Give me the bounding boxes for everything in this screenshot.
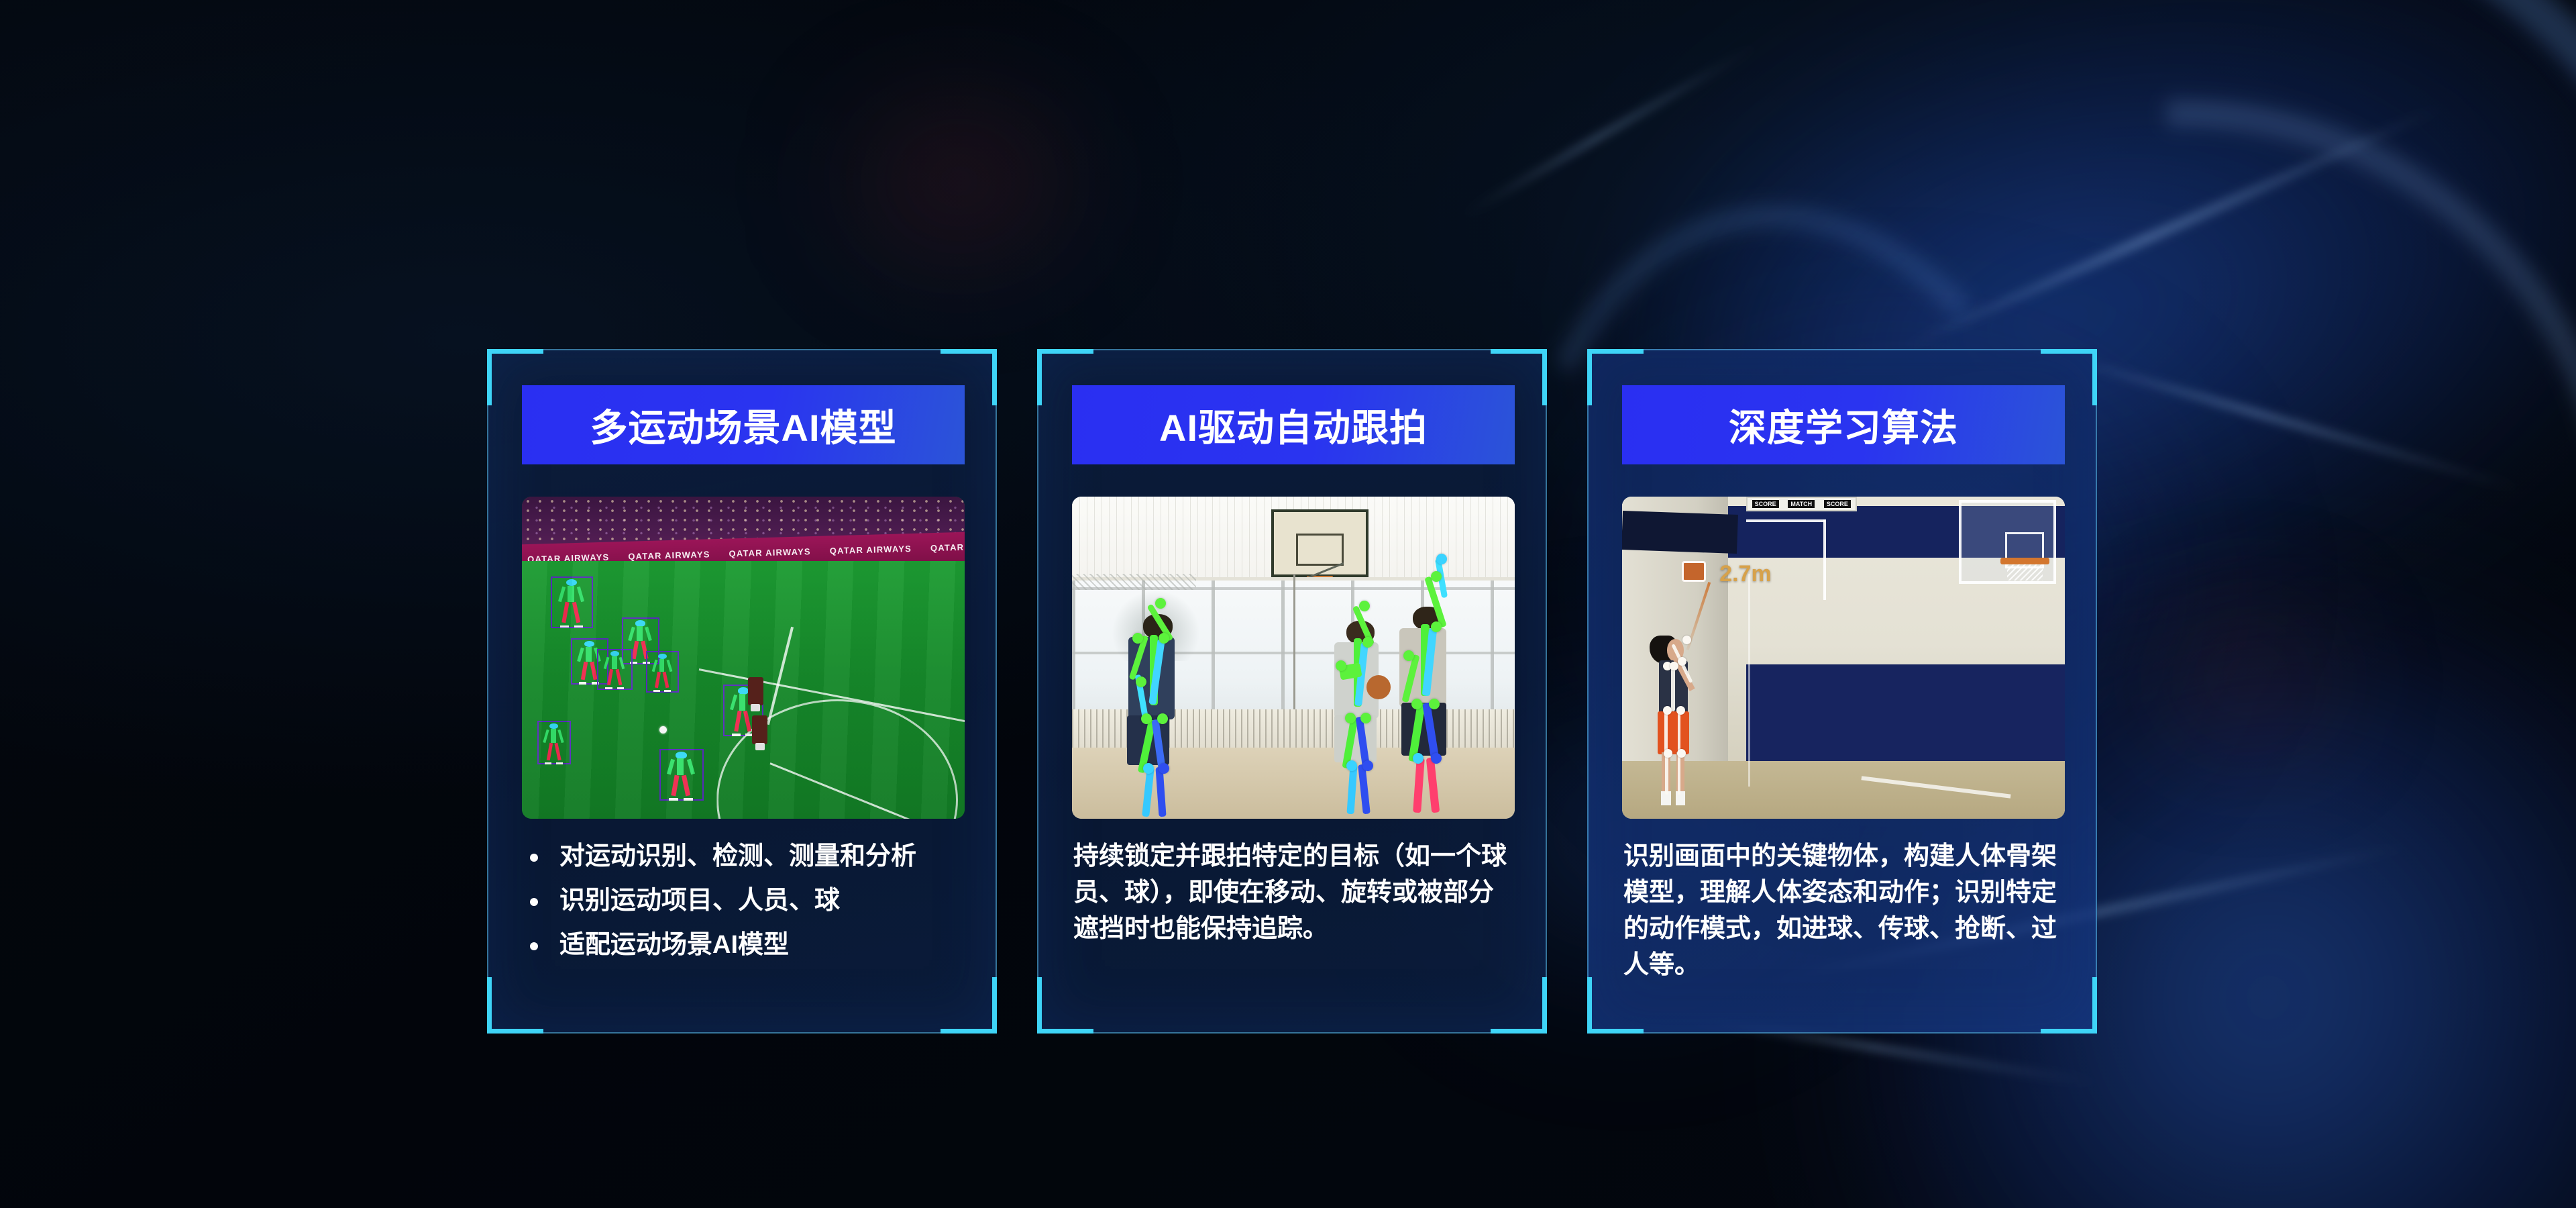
untracked-player [752,715,767,744]
pose-head-marker [738,687,749,694]
corner-bracket-bottom-left-icon [487,977,543,1034]
pose-joint [1676,706,1685,715]
pitch-line-far [769,762,965,819]
pose-head-marker [566,579,577,586]
detection-box-player [646,651,680,692]
pose-joint [1155,598,1166,609]
pose-right-arm-bone [619,657,625,670]
card-title-banner: AI驱动自动跟拍 [1072,385,1515,464]
pose-left-arm-bone [577,648,584,662]
detection-box-player [659,749,704,801]
pose-right-arm-bone [687,759,695,775]
pose-right-shoe [574,625,583,628]
untracked-player [748,677,763,705]
pose-right-arm-bone [666,660,672,672]
corner-bracket-bottom-left-icon [1037,977,1093,1034]
pose-right-arm-bone [645,627,651,641]
tracked-player-pose-right [1382,593,1479,812]
pose-right-leg-bone [743,710,751,731]
sponsor-banner-text-2: QATAR AIRWAYS [628,549,710,561]
pose-right-arm-bone [748,695,755,711]
pose-head-marker [549,723,558,729]
pose-left-arm-bone [667,759,675,775]
wall-navy-pad-lower [1746,664,2065,761]
pose-joint [1362,637,1373,648]
window-mesh-guard [1072,574,1196,590]
detection-box-player [537,721,571,764]
pose-head-marker [658,654,667,659]
measurement-guide-horizontal [1746,519,1826,522]
pose-torso-bone [568,586,574,603]
pose-right-leg-bone [554,742,561,760]
feature-card-deep-learning[interactable]: 深度学习算法 SCORE MATCH SCORE [1587,349,2097,1034]
scoreboard-label-score-left: SCORE [1752,500,1779,508]
pose-left-shoe [630,662,637,664]
corner-bracket-bottom-right-icon [941,977,997,1034]
gym-scene [1072,497,1515,819]
pose-left-shin-bone [1346,764,1357,815]
basketball-backboard [1271,509,1368,577]
detection-box-player [551,576,593,628]
pose-left-leg-bone [734,710,741,731]
pose-left-shin-bone [1142,766,1154,816]
corner-bracket-bottom-right-icon [1491,977,1547,1034]
corner-bracket-bottom-right-icon [2041,977,2097,1034]
pose-left-arm-bone [651,660,657,672]
pose-left-shin-bone [1413,757,1425,812]
pose-joint [1345,713,1356,723]
pose-right-shoe [745,734,753,736]
pose-torso-bone [551,729,555,743]
scoreboard-label-match: MATCH [1788,500,1815,508]
pose-joint [1362,760,1373,771]
pose-right-shoe [617,687,625,689]
pose-right-shoe [664,690,671,692]
scoreboard-label-score-right: SCORE [1824,500,1851,508]
pose-right-shoe [684,798,693,801]
pose-left-leg-bone [581,661,588,680]
pose-right-shin-bone [1426,757,1439,812]
backboard-inner-square [1296,534,1344,566]
pose-left-arm-bone [730,695,737,711]
detection-box-player [723,685,763,736]
pose-right-leg-bone [641,641,648,660]
pose-left-shoe [732,734,740,736]
sponsor-banner-text-3: QATAR AIRWAYS [729,546,812,558]
basketball-net [2007,564,2043,581]
pose-joint [1141,713,1152,724]
pose-right-leg-bone [663,672,669,689]
corner-bracket-bottom-left-icon [1587,977,1644,1034]
detection-box-player [597,649,633,690]
pose-right-shoe [643,662,650,664]
sponsor-banner-text-4: QATAR AIRWAYS [830,543,912,555]
pose-right-leg-bone [615,669,622,686]
card-title-text: AI驱动自动跟拍 [1159,398,1428,452]
pose-joint [1411,699,1422,709]
pose-left-shin-bone [1665,752,1668,795]
pose-joint [1664,749,1672,758]
pose-joint [1136,676,1146,687]
pose-head-marker [610,651,620,656]
pose-left-leg-bone [672,774,680,795]
player-shorts [1658,711,1690,754]
pitch-line-side [767,627,794,725]
pose-joint [1678,657,1686,666]
pose-right-arm-bone [594,648,600,662]
soccer-pitch-detection-preview[interactable]: QATAR AIRWAYS QATAR AIRWAYS QATAR AIRWAY… [522,497,965,819]
feature-description: 持续锁定并跟拍特定的目标（如一个球员、球），即使在移动、旋转或被部分遮挡时也能保… [1073,839,1519,948]
pose-left-leg-bone [632,641,639,660]
pose-torso-bone [637,626,642,641]
sponsor-banner-text-5: QATAR AIRWAYS [930,540,965,552]
pose-right-shin-bone [1678,752,1681,795]
pose-right-arm-bone [577,587,584,603]
pose-left-leg-bone [655,672,661,689]
pose-torso-bone [612,656,617,670]
pose-right-leg-bone [572,602,581,623]
soccer-ball [659,726,667,734]
pose-right-leg-bone [682,774,690,795]
pose-torso-bone [659,659,664,672]
pose-joint [1143,763,1154,774]
pose-torso-bone [586,647,591,662]
pitch-turf [522,561,965,819]
pose-joint [1682,636,1691,644]
pose-torso-bone [677,758,684,775]
pose-left-arm-bone [603,657,609,670]
pose-left-leg-bone [607,669,613,686]
pose-joint [1677,749,1686,758]
pose-right-shoe [592,682,599,684]
measurement-guide-vertical [1823,519,1826,600]
pose-head-marker [635,620,645,626]
soccer-scene: QATAR AIRWAYS QATAR AIRWAYS QATAR AIRWAY… [522,497,965,819]
pose-left-arm-bone [543,729,549,743]
pose-right-shoe [556,762,563,764]
basketball-rim [2000,558,2049,564]
pose-left-leg-bone [562,602,570,623]
pose-head-marker [676,752,687,758]
pose-head-marker [584,641,594,647]
card-title-text: 多运动场景AI模型 [590,398,897,452]
feature-card-row: 多运动场景AI模型 QATAR AIRWAYS QATAR AIRWAYS QA… [487,349,2097,1034]
pose-joint [1132,633,1143,644]
pitch-line-diagonal [699,668,965,723]
list-item: 适配运动场景AI模型 [518,927,973,964]
measurement-value-label: 2.7m [1719,561,1772,587]
measurement-guide-drop [1748,574,1750,787]
pose-joint [1157,713,1168,724]
feature-bullet-list: 对运动识别、检测、测量和分析 识别运动项目、人员、球 适配运动场景AI模型 [518,839,973,972]
pose-joint [1159,763,1169,774]
pose-right-leg-bone [590,661,597,680]
list-item: 对运动识别、检测、测量和分析 [518,839,973,875]
pose-left-shoe [669,798,678,801]
pose-left-shoe [545,762,551,764]
pillar-dark-band [1622,511,1738,554]
pose-right-arm-bone [557,729,563,743]
pitch-centre-circle [716,699,958,819]
pose-joint [1360,713,1371,723]
pose-left-shoe [560,625,569,628]
feature-card-ai-auto-tracking[interactable]: AI驱动自动跟拍 [1037,349,1547,1034]
card-title-banner: 深度学习算法 [1622,385,2065,464]
detection-box-player [571,638,608,685]
pose-left-shoe [653,690,660,692]
pose-joint [1403,650,1414,661]
pose-joint [1359,601,1370,611]
pose-left-arm-bone [558,587,566,603]
pose-right-shin-bone [1358,764,1370,815]
card-title-text: 深度学习算法 [1729,398,1958,452]
detection-box-player [622,617,659,664]
list-item: 识别运动项目、人员、球 [518,883,973,919]
shot-height-measurement-preview[interactable]: SCORE MATCH SCORE 2.7m [1622,497,2065,819]
tracked-player-pose-left [1116,606,1205,812]
basketball-gym-pose-tracking-preview[interactable] [1072,497,1515,819]
pose-joint [1431,571,1442,582]
scoreboard: SCORE MATCH SCORE [1746,497,1857,511]
feature-card-multi-sport-model[interactable]: 多运动场景AI模型 QATAR AIRWAYS QATAR AIRWAYS QA… [487,349,997,1034]
pose-torso-bone [739,694,745,711]
pose-left-leg-bone [547,742,553,760]
pose-left-shoe [579,682,586,684]
card-title-banner: 多运动场景AI模型 [522,385,965,464]
pose-right-shin-bone [1155,767,1166,817]
tracked-shooter-pose [1644,632,1711,809]
ball-tracking-box [1682,561,1706,582]
pose-joint [1431,753,1442,764]
pose-joint [1431,621,1442,632]
feature-description: 识别画面中的关键物体，构建人体骨架模型，理解人体姿态和动作；识别特定的动作模式，… [1623,839,2069,984]
pose-joint [1429,699,1440,709]
measurement-scene: SCORE MATCH SCORE 2.7m [1622,497,2065,819]
pose-left-arm-bone [628,627,635,641]
pose-left-shoe [605,687,612,689]
